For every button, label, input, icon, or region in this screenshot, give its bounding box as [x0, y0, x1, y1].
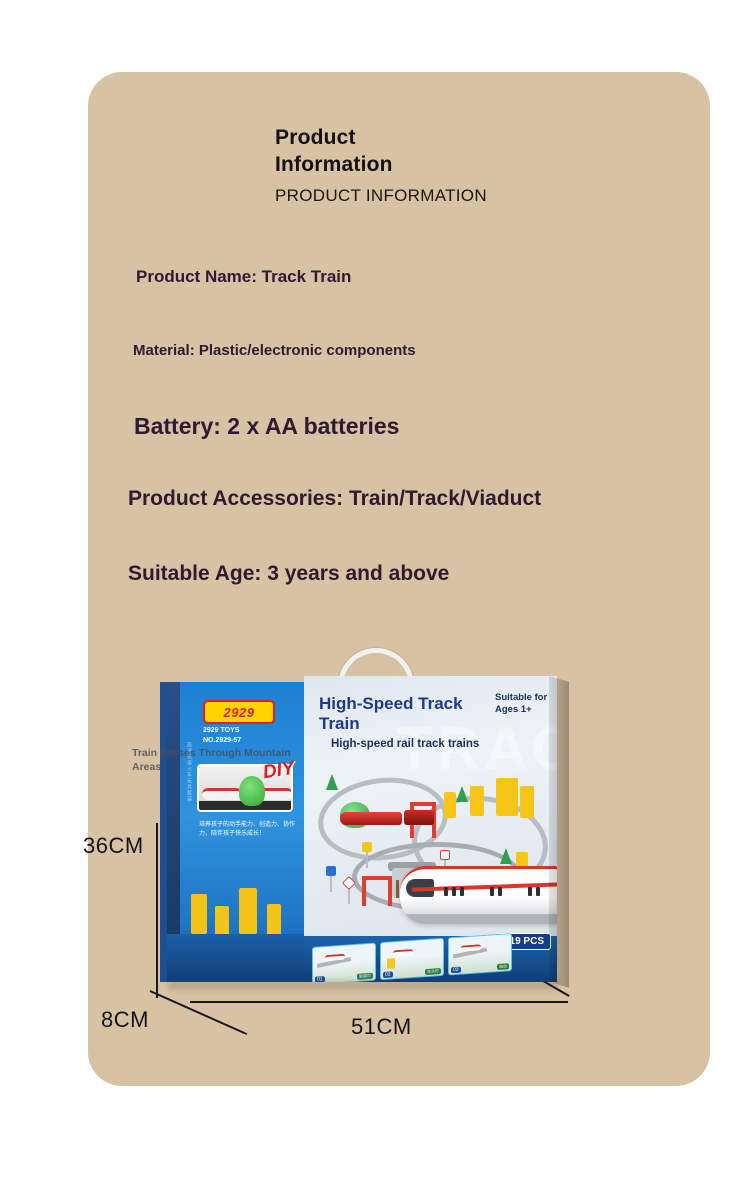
thumbnail-item: 02 车头灯 [380, 938, 444, 980]
viaduct-piece [191, 894, 207, 934]
box-title: High-Speed Track Train [319, 694, 484, 733]
sign-post [348, 888, 350, 904]
hero-train-photo [400, 866, 557, 924]
spec-battery: Battery: 2 x AA batteries [134, 413, 399, 440]
box-side-face [549, 676, 569, 988]
page-root: Product Information PRODUCT INFORMATION … [0, 0, 750, 1182]
inset-mountain [239, 776, 265, 806]
box-subtitle: High-speed rail track trains [331, 738, 479, 750]
spec-suitable-age: Suitable Age: 3 years and above [128, 562, 449, 586]
viaduct-support [520, 786, 534, 818]
hero-train-window [490, 887, 494, 896]
page-title-line2: Information [275, 152, 605, 179]
thumbnail-label: 轨道灯 [357, 973, 373, 980]
spec-product-name: Product Name: Track Train [136, 267, 351, 287]
thumbnail-label: 车头灯 [425, 968, 441, 975]
model-number: NO.2929-57 [203, 737, 241, 744]
brand-name: 2929 TOYS [203, 727, 239, 734]
viaduct-piece [239, 888, 257, 934]
tree-icon [500, 848, 512, 864]
red-locomotive-car [404, 810, 434, 825]
box-chinese-copy: 培养孩子的动手能力、创造力、协作力，陪伴孩子快乐成长！ [199, 820, 297, 839]
viaduct-support [496, 778, 518, 816]
hero-train-window [528, 887, 532, 896]
hero-train-window [444, 887, 448, 896]
spec-accessories: Product Accessories: Train/Track/Viaduct [128, 487, 541, 511]
warning-sign-icon [362, 842, 372, 852]
age-suitability-label: Suitable for Ages 1+ [495, 692, 549, 716]
hero-train-window [460, 887, 464, 896]
thumbnail-item: 03 站台 [448, 933, 512, 975]
viaduct-piece [215, 906, 229, 936]
box-left-bottom-band [167, 934, 304, 982]
hero-train-window [498, 887, 502, 896]
gantry-post [362, 878, 366, 906]
thumbnail-number: 03 [451, 967, 461, 974]
box-left-panel: 高速轨道火车玩具套装 2929 2929 TOYS NO.2929-57 DIY… [160, 682, 304, 982]
brand-logo: 2929 [203, 700, 275, 724]
spec-material: Material: Plastic/electronic components [133, 342, 416, 359]
page-subtitle: PRODUCT INFORMATION [275, 186, 605, 206]
thumbnail-label: 站台 [497, 963, 509, 970]
hero-train-window [536, 887, 540, 896]
product-box-image: 高速轨道火车玩具套装 2929 2929 TOYS NO.2929-57 DIY… [160, 662, 570, 1002]
dimension-width-label: 51CM [351, 1014, 412, 1040]
sign-post [366, 852, 368, 868]
hero-train-window [452, 887, 456, 896]
overlay-caption: Train passes Through Mountain Areas [132, 746, 302, 774]
page-title-block: Product Information PRODUCT INFORMATION [275, 125, 605, 206]
station-post [396, 880, 399, 898]
viaduct-piece [267, 904, 281, 936]
page-title-line1: Product [275, 125, 605, 152]
thumb-viaduct [387, 958, 395, 969]
viaduct-support [444, 792, 456, 818]
box-front-panel: TRACK High-Speed Track Train High-speed … [304, 676, 557, 982]
sign-post [330, 876, 332, 892]
crossing-sign-icon [440, 850, 450, 860]
viaduct-support [470, 786, 484, 816]
tree-icon [326, 774, 338, 790]
thumb-train [393, 949, 413, 956]
dimension-height-line [156, 823, 158, 998]
red-locomotive [340, 812, 402, 825]
dimension-depth-label: 8CM [101, 1007, 149, 1033]
dimension-height-label: 36CM [83, 833, 144, 859]
parking-sign-icon [326, 866, 336, 876]
box-shadow [168, 980, 558, 990]
thumbnail-item: 01 轨道灯 [312, 943, 376, 982]
page-title: Product Information [275, 125, 605, 179]
hero-train-base [400, 914, 557, 924]
thumbnail-number: 02 [383, 971, 393, 978]
inset-train-left [202, 788, 242, 800]
tree-icon [456, 786, 468, 802]
